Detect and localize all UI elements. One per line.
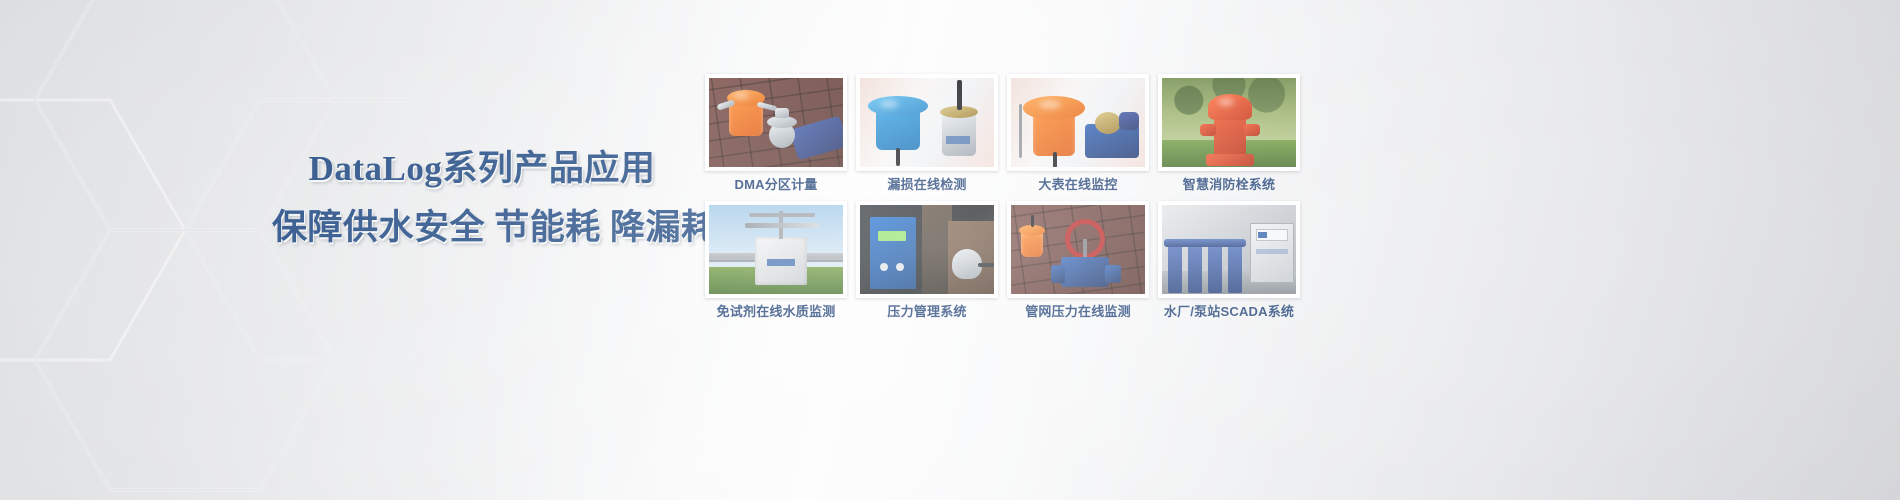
orange-logger-and-blue-valve-image (709, 78, 843, 167)
product-card-smart-hydrant[interactable]: 智慧消防栓系统 (1158, 74, 1300, 193)
headline-line-2: 保障供水安全 节能耗 降漏耗 (272, 207, 692, 249)
product-caption: 大表在线监控 (1007, 177, 1149, 193)
product-caption: 压力管理系统 (856, 304, 998, 320)
product-caption: 水厂/泵站SCADA系统 (1158, 304, 1300, 320)
product-card-pressure-management[interactable]: 压力管理系统 (856, 201, 998, 320)
blue-leak-sensor-image (860, 78, 994, 167)
product-thumbnail[interactable] (1158, 74, 1300, 171)
orange-cap-water-meter-image (1011, 78, 1145, 167)
product-card-large-meter[interactable]: 大表在线监控 (1007, 74, 1149, 193)
product-caption: 漏损在线检测 (856, 177, 998, 193)
product-thumbnail[interactable] (856, 74, 998, 171)
product-card-leak-detection[interactable]: 漏损在线检测 (856, 74, 998, 193)
hexagon-watermark (0, 0, 480, 500)
headline-block: DataLog系列产品应用 保障供水安全 节能耗 降漏耗 (272, 148, 692, 249)
product-thumbnail[interactable] (856, 201, 998, 298)
product-thumbnail[interactable] (1007, 201, 1149, 298)
water-quality-station-image (709, 205, 843, 294)
product-caption: 免试剂在线水质监测 (705, 304, 847, 320)
product-caption: 管网压力在线监测 (1007, 304, 1149, 320)
product-thumbnail[interactable] (1158, 201, 1300, 298)
product-card-dma[interactable]: DMA分区计量 (705, 74, 847, 193)
headline-line-1: DataLog系列产品应用 (272, 148, 692, 190)
red-handwheel-valve-image (1011, 205, 1145, 294)
pressure-control-panel-image (860, 205, 994, 294)
product-caption: DMA分区计量 (705, 177, 847, 193)
product-banner: DataLog系列产品应用 保障供水安全 节能耗 降漏耗 D (0, 0, 1900, 500)
product-card-pipe-pressure[interactable]: 管网压力在线监测 (1007, 201, 1149, 320)
product-thumbnail[interactable] (705, 74, 847, 171)
product-grid: DMA分区计量 漏损在线检测 (705, 74, 1300, 320)
product-thumbnail[interactable] (705, 201, 847, 298)
product-card-water-quality[interactable]: 免试剂在线水质监测 (705, 201, 847, 320)
product-thumbnail[interactable] (1007, 74, 1149, 171)
product-card-scada[interactable]: 水厂/泵站SCADA系统 (1158, 201, 1300, 320)
fire-hydrant-image (1162, 78, 1296, 167)
product-caption: 智慧消防栓系统 (1158, 177, 1300, 193)
pump-station-cabinet-image (1162, 205, 1296, 294)
